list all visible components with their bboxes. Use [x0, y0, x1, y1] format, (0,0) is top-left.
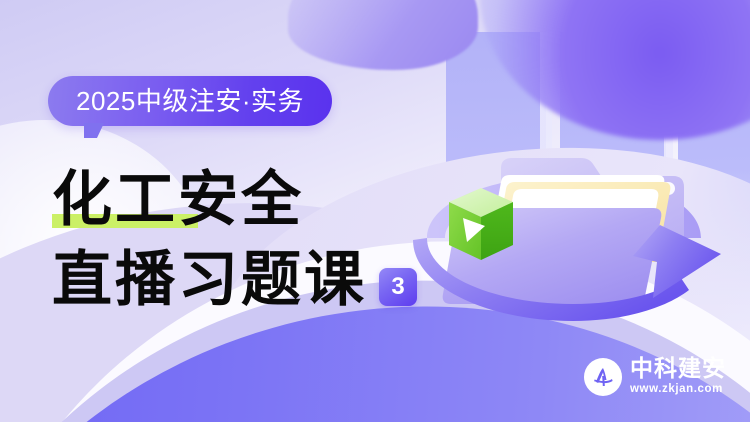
green-play-cube [449, 188, 513, 260]
title-line-1: 化工安全 [52, 168, 304, 232]
title-line-2-row: 直播习题课 3 [52, 240, 417, 312]
brand-logo-text: 中科建安 www.zkjan.com [630, 357, 726, 396]
speech-bubble-tail-icon [84, 123, 104, 138]
brand-name: 中科建安 [630, 357, 726, 382]
course-banner: 2025中级注安·实务 化工安全 直播习题课 3 中科建安 [0, 0, 750, 422]
zkjan-circle-logo-icon [584, 358, 622, 396]
page-title: 化工安全 直播习题课 3 [52, 160, 417, 312]
course-badge-label: 2025中级注安·实务 [76, 88, 304, 114]
episode-number-badge: 3 [379, 268, 417, 306]
course-illustration [405, 90, 725, 340]
title-line-2: 直播习题课 [52, 248, 367, 312]
course-badge: 2025中级注安·实务 [48, 76, 332, 126]
episode-number: 3 [391, 275, 404, 299]
brand-url: www.zkjan.com [630, 382, 726, 396]
title-line-1-row: 化工安全 [52, 160, 417, 232]
course-badge-pill: 2025中级注安·实务 [48, 76, 332, 126]
background-blob-top [288, 0, 478, 70]
brand-logo[interactable]: 中科建安 www.zkjan.com [584, 357, 726, 396]
